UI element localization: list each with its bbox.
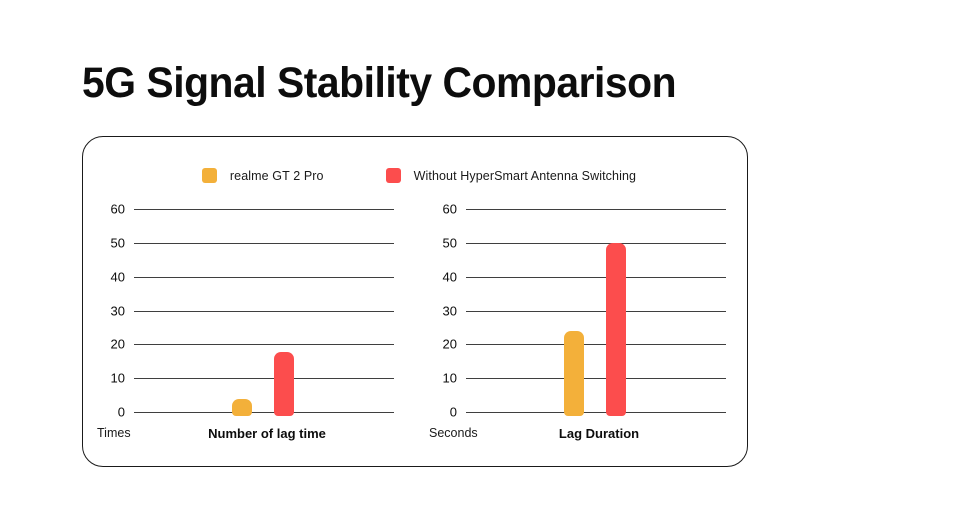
axis-captions-lag-duration: Seconds Lag Duration bbox=[415, 426, 747, 448]
y-axis-tick-label: 20 bbox=[111, 337, 125, 352]
legend-label-without-hypersmart: Without HyperSmart Antenna Switching bbox=[414, 169, 636, 183]
y-axis-tick-label: 50 bbox=[443, 235, 457, 250]
y-axis-tick-label: 40 bbox=[111, 269, 125, 284]
legend-item-without-hypersmart: Without HyperSmart Antenna Switching bbox=[386, 168, 636, 183]
legend-swatch-without-hypersmart bbox=[386, 168, 401, 183]
axis-captions-lag-count: Times Number of lag time bbox=[83, 426, 415, 448]
page-title: 5G Signal Stability Comparison bbox=[82, 59, 676, 108]
y-axis-tick-label: 30 bbox=[111, 303, 125, 318]
y-axis-tick-label: 10 bbox=[443, 371, 457, 386]
chart-page: 5G Signal Stability Comparison realme GT… bbox=[0, 0, 953, 531]
y-axis-tick-label: 60 bbox=[443, 202, 457, 217]
gridline bbox=[134, 412, 394, 413]
y-axis-tick-label: 60 bbox=[111, 202, 125, 217]
y-axis-tick-label: 20 bbox=[443, 337, 457, 352]
y-axis-tick-label: 50 bbox=[111, 235, 125, 250]
plot-area-lag-duration: 6050403020100 bbox=[466, 209, 726, 412]
gridline bbox=[466, 412, 726, 413]
chart-panels: 6050403020100 Times Number of lag time 6… bbox=[83, 199, 747, 454]
category-label-lag-duration: Lag Duration bbox=[415, 426, 747, 441]
bars-lag-duration bbox=[466, 209, 726, 412]
bar-realme bbox=[564, 331, 584, 416]
y-axis-tick-label: 0 bbox=[118, 405, 125, 420]
chart-card: realme GT 2 Pro Without HyperSmart Anten… bbox=[82, 136, 748, 467]
category-label-lag-count: Number of lag time bbox=[83, 426, 415, 441]
bar-without-hypersmart bbox=[606, 243, 626, 416]
bar-without-hypersmart bbox=[274, 352, 294, 416]
y-axis-tick-label: 10 bbox=[111, 371, 125, 386]
chart-panel-lag-count: 6050403020100 Times Number of lag time bbox=[83, 199, 415, 454]
bar-realme bbox=[232, 399, 252, 416]
y-axis-tick-label: 40 bbox=[443, 269, 457, 284]
y-axis-tick-label: 0 bbox=[450, 405, 457, 420]
bars-lag-count bbox=[134, 209, 394, 412]
chart-panel-lag-duration: 6050403020100 Seconds Lag Duration bbox=[415, 199, 747, 454]
legend-item-realme: realme GT 2 Pro bbox=[202, 168, 324, 183]
chart-legend: realme GT 2 Pro Without HyperSmart Anten… bbox=[83, 168, 747, 183]
y-axis-tick-label: 30 bbox=[443, 303, 457, 318]
legend-swatch-realme bbox=[202, 168, 217, 183]
plot-area-lag-count: 6050403020100 bbox=[134, 209, 394, 412]
legend-label-realme: realme GT 2 Pro bbox=[230, 169, 324, 183]
